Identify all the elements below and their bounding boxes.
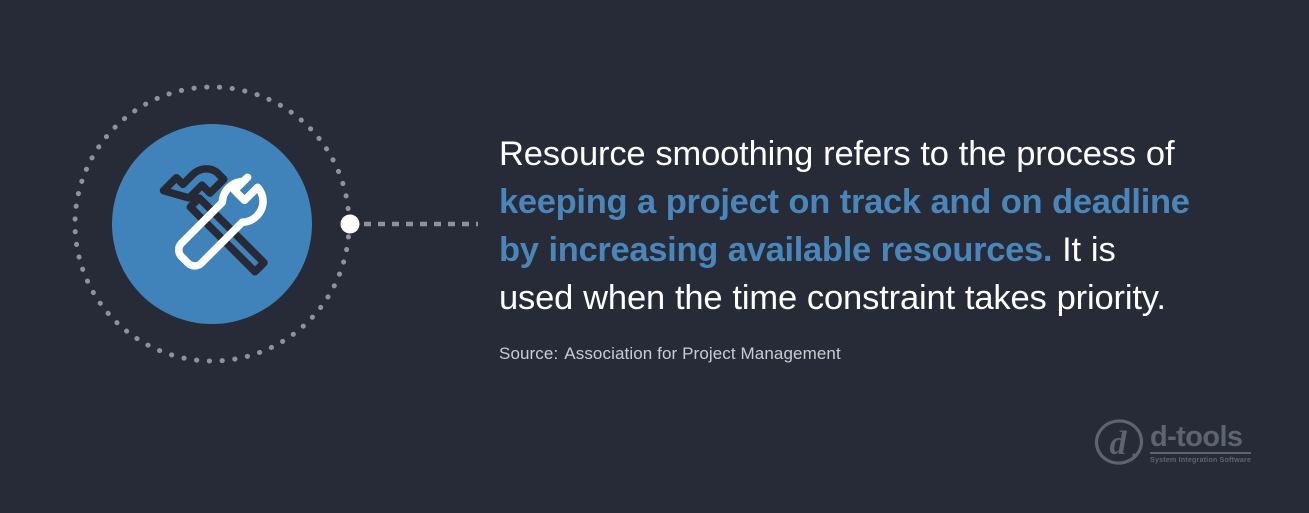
- brand-tagline: System Integration Software: [1150, 454, 1251, 465]
- svg-text:d: d: [1110, 425, 1128, 462]
- brand-logo[interactable]: d d-tools System Integration Software: [1093, 415, 1243, 473]
- source-value: Association for Project Management: [564, 344, 840, 363]
- quote-text: Resource smoothing refers to the process…: [499, 130, 1199, 322]
- infographic-card: Resource smoothing refers to the process…: [0, 0, 1309, 513]
- d-tools-monogram-icon: d: [1093, 416, 1145, 473]
- quote-segment-plain-1: Resource smoothing refers to the process…: [499, 135, 1174, 173]
- source-attribution: Source:Association for Project Managemen…: [499, 322, 1199, 365]
- icon-graphic-group: [0, 0, 500, 513]
- source-label: Source:: [499, 344, 558, 363]
- brand-name: d-tools: [1150, 423, 1251, 451]
- copy-block: Resource smoothing refers to the process…: [499, 130, 1199, 365]
- brand-wordmark: d-tools System Integration Software: [1150, 423, 1251, 465]
- connector-dot: [341, 215, 360, 234]
